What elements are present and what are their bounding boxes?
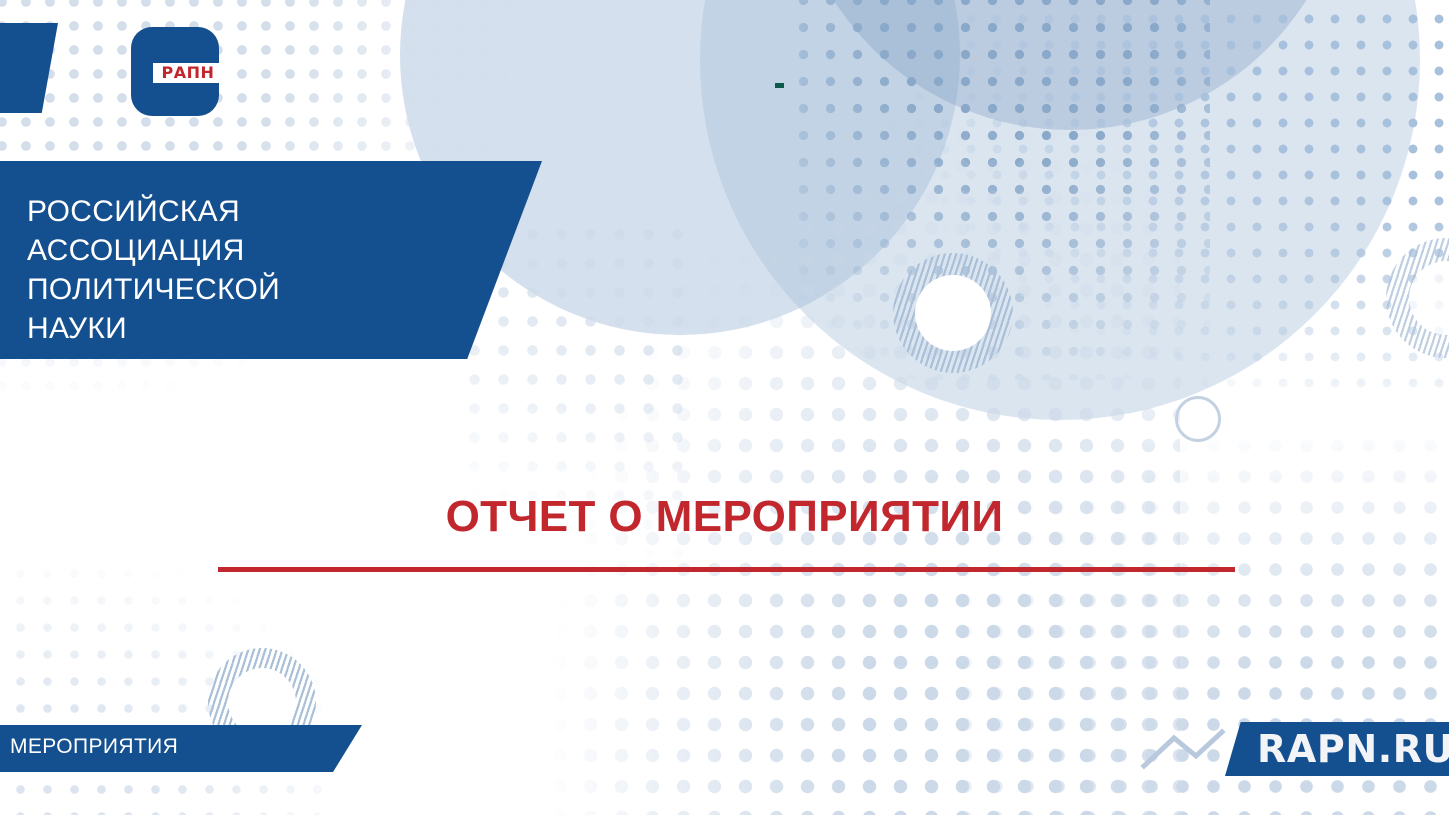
overlap-wedge-shape <box>790 0 1350 130</box>
green-speck-artifact <box>775 83 784 88</box>
halftone-wedge <box>790 0 1210 380</box>
organisation-name-text: РОССИЙСКАЯ АССОЦИАЦИЯ ПОЛИТИЧЕСКОЙ НАУКИ <box>27 192 427 348</box>
site-url-label: RAPN.RU <box>1257 727 1449 771</box>
chart-zigzag-line <box>1140 726 1240 770</box>
striped-ring-center <box>893 253 1013 373</box>
halftone-top-right <box>880 0 1449 400</box>
logo-abbreviation-text: РАПН <box>155 63 221 83</box>
decorative-background <box>0 0 1449 815</box>
rapn-logo[interactable]: РАПН <box>131 27 219 116</box>
halftone-bottom-left <box>0 560 340 815</box>
events-category-label: МЕРОПРИЯТИЯ <box>10 735 178 759</box>
outline-circle-right <box>1175 396 1221 442</box>
halftone-center-diagonal <box>420 120 1180 815</box>
event-report-title: ОТЧЕТ О МЕРОПРИЯТИИ <box>0 492 1449 542</box>
title-underline-rule <box>218 567 1235 572</box>
pale-circle-right-shape <box>700 0 1420 420</box>
slide-canvas: РАПН РОССИЙСКАЯ АССОЦИАЦИЯ ПОЛИТИЧЕСКОЙ … <box>0 0 1449 815</box>
top-left-slanted-slab <box>0 23 58 113</box>
striped-ring-right-edge <box>1386 238 1449 358</box>
